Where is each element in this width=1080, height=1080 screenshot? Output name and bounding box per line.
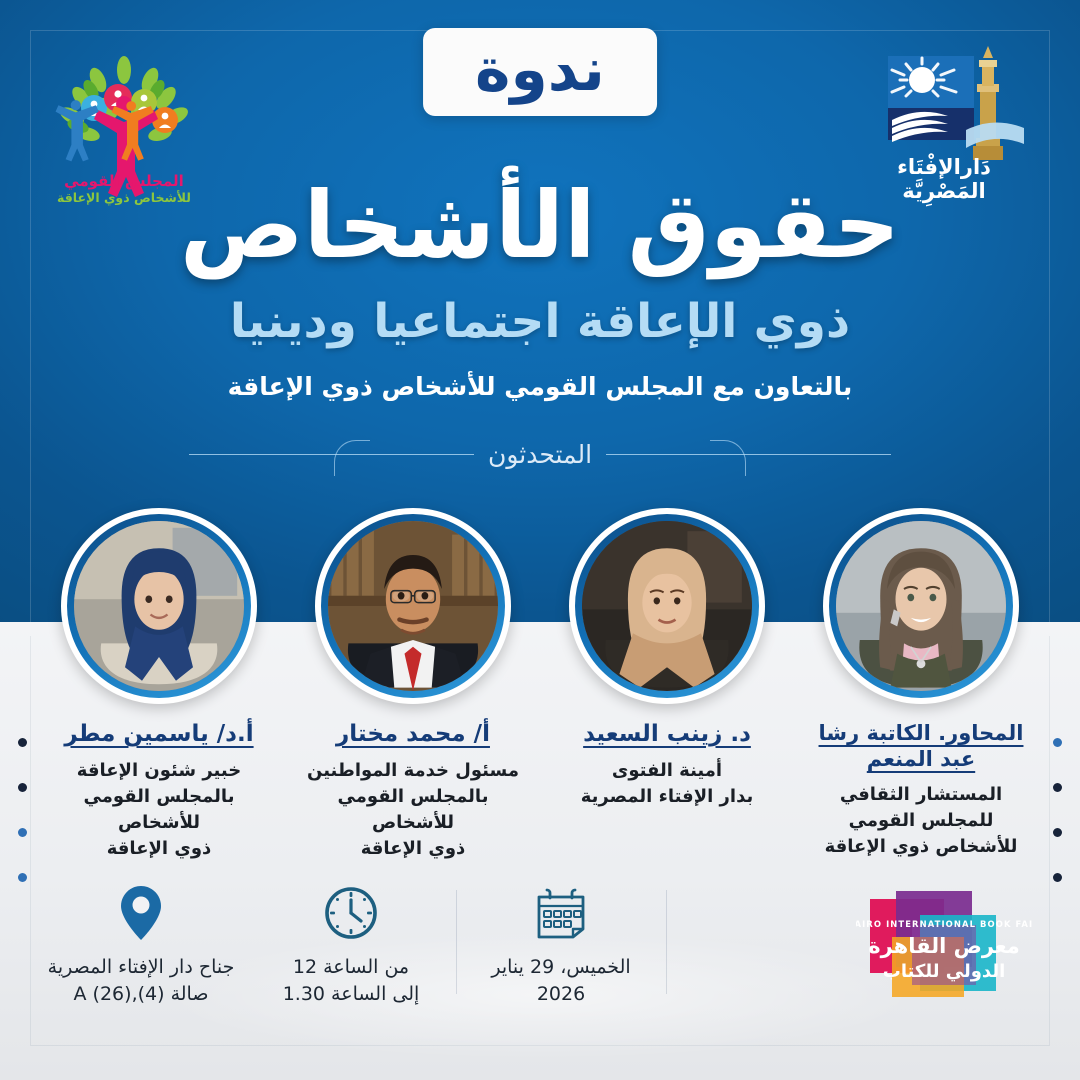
speaker-role: خبير شئون الإعاقةبالمجلس القومي للأشخاصذ… xyxy=(35,758,283,862)
info-date: الخميس، 29 يناير 2026 xyxy=(456,876,666,1016)
info-location: جناح دار الإفتاء المصرية صالة (4),(26) A xyxy=(36,876,246,1016)
decor-dot xyxy=(1053,873,1062,882)
event-info-bar: جناح دار الإفتاء المصرية صالة (4),(26) A xyxy=(36,876,1044,1016)
speaker-card-rasha-abdelmoneim: المحاور. الكاتبة رشا عبد المنعم المستشار… xyxy=(797,508,1045,860)
map-pin-icon xyxy=(118,882,164,944)
clock-icon xyxy=(322,882,380,944)
avatar-ring xyxy=(829,514,1013,698)
time-line2: إلى الساعة 1.30 xyxy=(283,981,420,1008)
date-line2: 2026 xyxy=(491,981,630,1008)
speakers-section-label: المتحدثون xyxy=(488,440,592,469)
speaker-name: د. زينب السعيد xyxy=(543,720,791,749)
avatar xyxy=(61,508,257,704)
decorative-dots-left xyxy=(18,738,27,882)
fair-logo-english: CAIRO INTERNATIONAL BOOK FAIR xyxy=(856,919,1032,929)
location-line2: صالة (4),(26) A xyxy=(48,981,235,1008)
cooperation-note: بالتعاون مع المجلس القومي للأشخاص ذوي ال… xyxy=(0,372,1080,402)
event-type-badge: ندوة xyxy=(423,28,657,116)
calendar-icon xyxy=(532,882,590,944)
event-poster: المجلس القومي للأشخاص ذوي الإعاقة xyxy=(0,0,1080,1080)
speaker-card-zeinab-elsaid: د. زينب السعيد أمينة الفتوىبدار الإفتاء … xyxy=(543,508,791,810)
info-spacer xyxy=(666,876,844,1016)
decor-dot xyxy=(1053,738,1062,747)
speaker-name: أ/ محمد مختار xyxy=(289,720,537,749)
decor-dot xyxy=(1053,828,1062,837)
event-type-label: ندوة xyxy=(475,40,605,100)
time-line1: من الساعة 12 xyxy=(283,954,420,981)
info-location-text: جناح دار الإفتاء المصرية صالة (4),(26) A xyxy=(42,954,241,1008)
avatar-ring xyxy=(321,514,505,698)
decor-dot xyxy=(18,738,27,747)
ifta-logo-line1: دَارالإفْتَاء xyxy=(897,153,991,179)
portrait-woman-in-navy-headscarf xyxy=(74,521,244,691)
info-date-text: الخميس، 29 يناير 2026 xyxy=(485,954,636,1008)
portrait-woman-with-long-hair xyxy=(836,521,1006,691)
page-title: حقوق الأشخاص xyxy=(0,178,1080,275)
divider-rule-right xyxy=(606,454,891,455)
info-time: من الساعة 12 إلى الساعة 1.30 xyxy=(246,876,456,1016)
cairo-international-book-fair-logo: CAIRO INTERNATIONAL BOOK FAIR معرض القاه… xyxy=(844,876,1044,1016)
page-subtitle: ذوي الإعاقة اجتماعيا ودينيا xyxy=(0,296,1080,348)
avatar-ring xyxy=(67,514,251,698)
speakers-divider: المتحدثون xyxy=(0,440,1080,469)
speaker-card-mohamed-mokhtar: أ/ محمد مختار مسئول خدمة المواطنينبالمجل… xyxy=(289,508,537,862)
date-line1: الخميس، 29 يناير xyxy=(491,954,630,981)
portrait-woman-in-beige-hijab xyxy=(582,521,752,691)
speaker-name: المحاور. الكاتبة رشا عبد المنعم xyxy=(797,720,1045,773)
decor-dot xyxy=(18,873,27,882)
speaker-name: أ.د/ ياسمين مطر xyxy=(35,720,283,749)
decor-dot xyxy=(1053,783,1062,792)
location-line1: جناح دار الإفتاء المصرية xyxy=(48,954,235,981)
fair-logo-arabic-line1: معرض القاهرة xyxy=(868,934,1020,958)
speaker-role: مسئول خدمة المواطنينبالمجلس القومي للأشخ… xyxy=(289,758,537,862)
portrait-man-in-suit-red-tie xyxy=(328,521,498,691)
speaker-role: أمينة الفتوىبدار الإفتاء المصرية xyxy=(543,758,791,810)
info-time-text: من الساعة 12 إلى الساعة 1.30 xyxy=(277,954,426,1008)
decorative-dots-right xyxy=(1053,738,1062,882)
speaker-card-yasmin-matar: أ.د/ ياسمين مطر خبير شئون الإعاقةبالمجلس… xyxy=(35,508,283,862)
speaker-role: المستشار الثقافي للمجلس القوميللأشخاص ذو… xyxy=(797,782,1045,860)
avatar-ring xyxy=(575,514,759,698)
decor-dot xyxy=(18,828,27,837)
fair-logo-arabic-line2: الدولي للكتاب xyxy=(883,961,1006,982)
divider-rule-left xyxy=(189,454,474,455)
avatar xyxy=(823,508,1019,704)
avatar xyxy=(315,508,511,704)
decor-dot xyxy=(18,783,27,792)
speakers-row: أ.د/ ياسمين مطر خبير شئون الإعاقةبالمجلس… xyxy=(0,508,1080,862)
avatar xyxy=(569,508,765,704)
